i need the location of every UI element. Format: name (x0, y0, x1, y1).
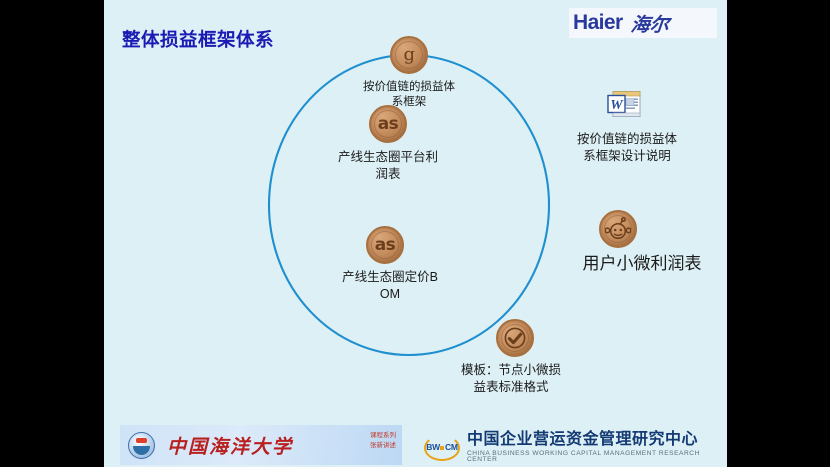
node-right-label: 用户小微利润表 (552, 253, 727, 275)
bwcm-research-center-banner: BWCM 中国企业营运资金管理研究中心 CHINA BUSINESS WORKI… (422, 432, 727, 464)
bwcm-logo-icon: BWCM (422, 433, 462, 463)
wood-medallion-reddit-face-icon[interactable] (599, 210, 637, 248)
node-left-lower[interactable]: as (366, 226, 404, 264)
wood-medallion-as-icon-upper[interactable]: as (369, 105, 407, 143)
node-bottom[interactable] (496, 319, 534, 357)
node-bottom-label: 模板：节点小微损 益表标准格式 (448, 362, 574, 395)
bwcm-monogram-left: BW (426, 442, 440, 452)
node-left-upper-label: 产线生态圈平台利 润表 (325, 149, 451, 182)
node-left-lower-label: 产线生态圈定价B OM (327, 269, 453, 302)
wood-medallion-check-badge-icon[interactable] (496, 319, 534, 357)
wood-medallion-g-icon[interactable]: g (390, 36, 428, 74)
slide-footer: 中国海洋大学 课程系列 张新讲述 BWCM 中国企业营运资金管理研究中心 CHI… (104, 421, 727, 467)
node-glyph-as-upper: as (378, 116, 399, 133)
node-top[interactable]: g (390, 36, 428, 74)
bwcm-name-chinese: 中国企业营运资金管理研究中心 (467, 432, 727, 449)
video-viewport: 整体损益框架体系 Haier 海尔 g 按价值链的损益体 系框架 (0, 0, 830, 467)
node-top-label: 按价值链的损益体 系框架 (350, 80, 468, 110)
ocean-university-seal-icon (128, 432, 155, 459)
node-left-upper[interactable]: as (369, 105, 407, 143)
bwcm-name-english: CHINA BUSINESS WORKING CAPITAL MANAGEMEN… (467, 451, 727, 464)
ocean-university-banner: 中国海洋大学 课程系列 张新讲述 (120, 425, 402, 465)
bwcm-monogram-square (440, 446, 444, 450)
ocean-university-name: 中国海洋大学 (167, 432, 293, 459)
presentation-slide: 整体损益框架体系 Haier 海尔 g 按价值链的损益体 系框架 (104, 0, 727, 467)
node-right-upper-label: 按价值链的损益体 系框架设计说明 (564, 131, 690, 164)
cycle-diagram: g 按价值链的损益体 系框架 (104, 0, 727, 420)
microsoft-word-document-icon[interactable]: W (607, 90, 641, 121)
node-right-upper[interactable]: W (607, 90, 641, 121)
node-glyph-as-lower: as (375, 237, 396, 254)
bwcm-monogram: BWCM (422, 442, 462, 452)
wood-medallion-as-icon-lower[interactable]: as (366, 226, 404, 264)
bwcm-name-block: 中国企业营运资金管理研究中心 CHINA BUSINESS WORKING CA… (467, 432, 727, 464)
node-right[interactable] (599, 210, 637, 248)
bwcm-monogram-right: CM (445, 442, 458, 452)
svg-text:W: W (610, 98, 624, 113)
ocean-university-subtitle-line2: 张新讲述 (370, 441, 396, 451)
node-glyph-g: g (403, 46, 414, 64)
ocean-university-subtitle-line1: 课程系列 (370, 431, 396, 441)
ocean-university-subtitle: 课程系列 张新讲述 (370, 431, 396, 452)
